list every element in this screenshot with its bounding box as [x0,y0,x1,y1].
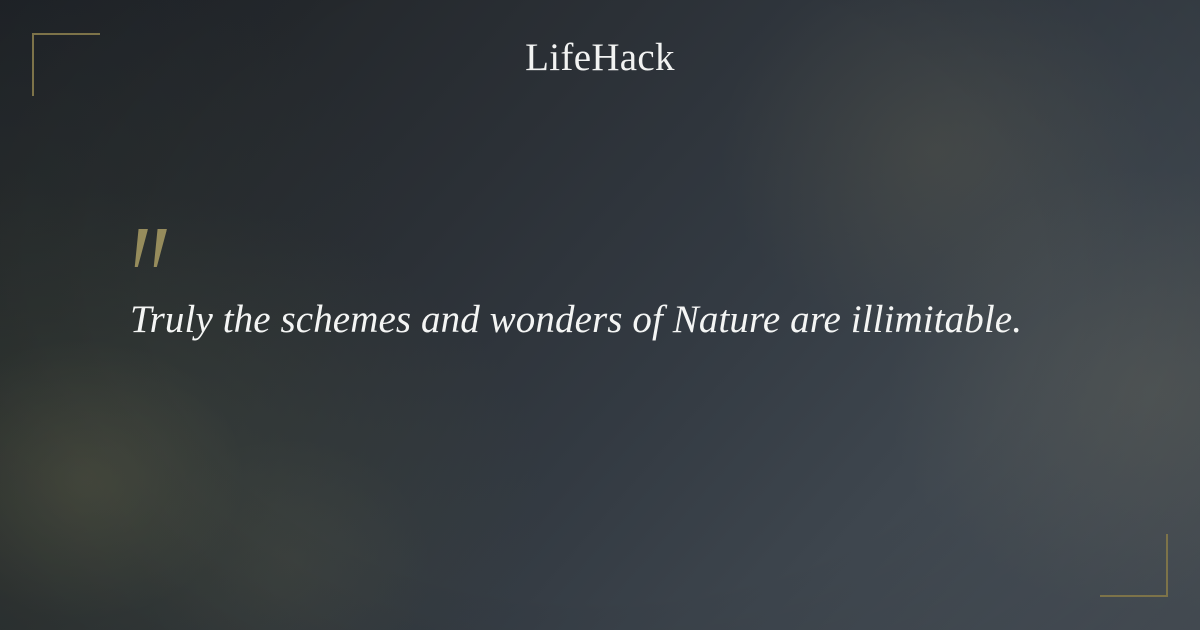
quote-text: Truly the schemes and wonders of Nature … [130,296,1090,344]
quote-card: LifeHack Truly the schemes and wonders o… [0,0,1200,630]
quote-mark-stroke-right [150,229,167,267]
quote-open-icon [134,229,178,269]
corner-bracket-bottom-right-icon [1100,534,1168,597]
bracket-vertical-line [1166,534,1168,597]
brand-logo: LifeHack [0,38,1200,77]
quote-mark-stroke-left [131,229,148,267]
bracket-horizontal-line [32,33,100,35]
bracket-horizontal-line [1100,595,1168,597]
